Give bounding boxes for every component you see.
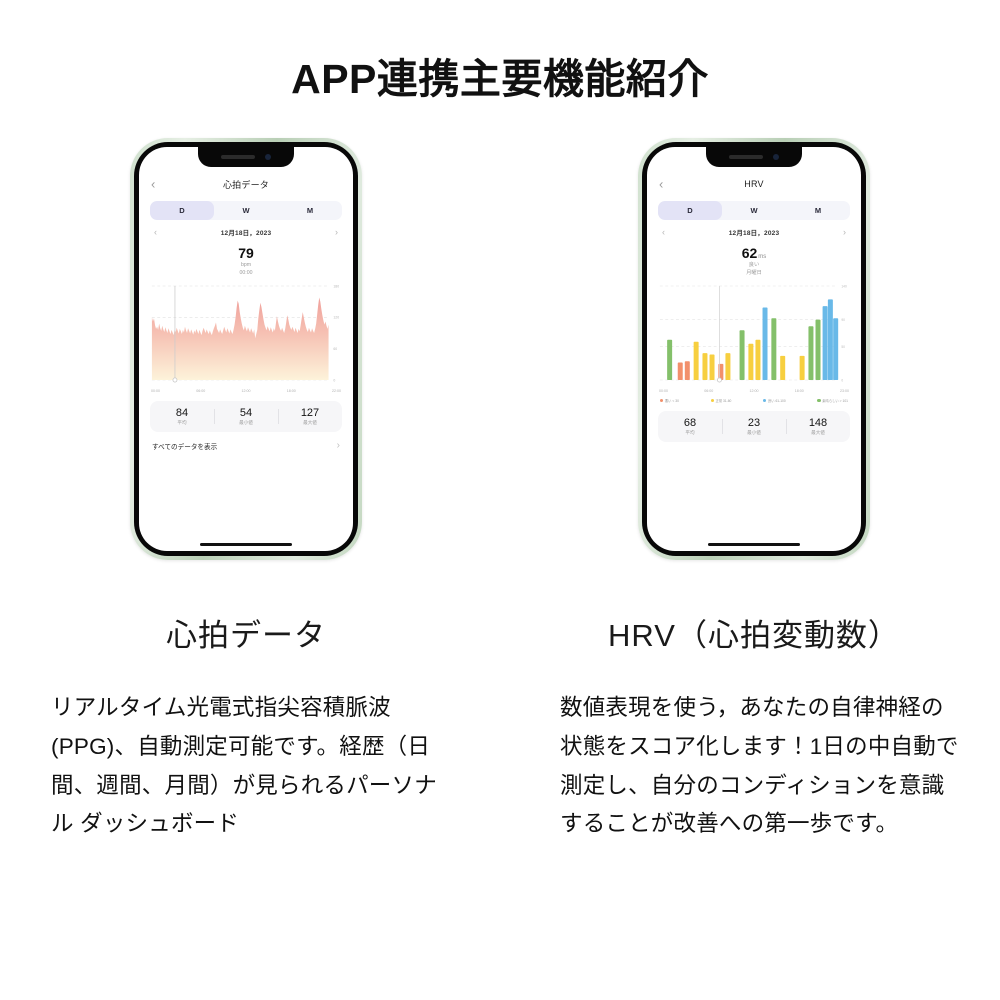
x-tick-label: 12:00 xyxy=(750,389,759,393)
front-camera-icon xyxy=(265,154,271,160)
svg-text:90: 90 xyxy=(841,318,845,322)
reading-time: 00:00 xyxy=(150,270,342,278)
summary-stats-card: 84 平均 54 最小値 127 最大値 xyxy=(150,401,342,432)
stat-minimum-label: 最小値 xyxy=(214,420,278,426)
front-camera-icon xyxy=(773,154,779,160)
stat-average: 84 平均 xyxy=(150,407,214,426)
date-next-icon[interactable]: › xyxy=(843,228,846,237)
summary-stats-card: 68 平均 23 最小値 148 最大値 xyxy=(658,411,850,442)
date-prev-icon[interactable]: ‹ xyxy=(154,228,157,237)
phone-screen-heart-rate: ‹ 心拍データ D W M ‹ 12月18日，2023 › 79 xyxy=(139,147,353,551)
stat-maximum-label: 最大値 xyxy=(278,420,342,426)
feature-column-hrv: ‹ HRV D W M ‹ 12月18日，2023 › xyxy=(554,138,954,844)
legend-color-dot-icon xyxy=(763,399,766,402)
x-tick-label: 06:00 xyxy=(704,389,713,393)
home-indicator xyxy=(708,543,800,547)
date-prev-icon[interactable]: ‹ xyxy=(662,228,665,237)
chart-bar-series xyxy=(667,299,838,380)
hrv-app: ‹ HRV D W M ‹ 12月18日，2023 › xyxy=(647,147,861,551)
chart-y-tick-labels: 05090140 xyxy=(841,284,847,382)
date-label: 12月18日，2023 xyxy=(729,227,780,237)
reading-value-wrap: 62ms xyxy=(658,246,850,261)
legend-color-dot-icon xyxy=(660,399,663,402)
legend-item-label: 正常 31-60 xyxy=(715,398,731,403)
stat-minimum-label: 最小値 xyxy=(722,430,786,436)
phone-screen-hrv: ‹ HRV D W M ‹ 12月18日，2023 › xyxy=(647,147,861,551)
hrv-chart-svg: 05090140 xyxy=(658,282,850,388)
svg-text:120: 120 xyxy=(333,316,339,320)
chart-x-tick-labels: 00:0006:0012:0018:0022:00 xyxy=(150,389,342,393)
earpiece-speaker-icon xyxy=(221,155,255,159)
legend-item: 悪い < 30 xyxy=(660,398,679,403)
reading-weekday: 月曜日 xyxy=(658,270,850,278)
current-reading: 79 bpm 00:00 xyxy=(150,246,342,278)
current-reading: 62ms 良い 月曜日 xyxy=(658,246,850,278)
heart-rate-chart: 060120180 xyxy=(150,282,342,388)
phone-mockup-hrv: ‹ HRV D W M ‹ 12月18日，2023 › xyxy=(638,138,870,560)
earpiece-speaker-icon xyxy=(729,155,763,159)
home-indicator xyxy=(200,543,292,547)
legend-color-dot-icon xyxy=(711,399,714,402)
x-tick-label: 18:00 xyxy=(287,389,296,393)
x-tick-label: 06:00 xyxy=(196,389,205,393)
svg-text:0: 0 xyxy=(841,378,843,382)
segment-day[interactable]: D xyxy=(658,201,722,220)
feature-column-heart-rate: ‹ 心拍データ D W M ‹ 12月18日，2023 › 79 xyxy=(46,138,446,844)
segment-week[interactable]: W xyxy=(722,201,786,220)
stat-average-label: 平均 xyxy=(658,430,722,436)
period-segmented-control[interactable]: D W M xyxy=(658,201,850,220)
svg-text:140: 140 xyxy=(841,284,847,288)
stat-minimum-value: 23 xyxy=(722,417,786,429)
legend-item: 正常 31-60 xyxy=(711,398,732,403)
reading-unit: ms xyxy=(758,254,766,260)
nav-title: 心拍データ xyxy=(223,178,269,191)
svg-text:60: 60 xyxy=(333,347,337,351)
stat-minimum: 54 最小値 xyxy=(214,407,278,426)
nav-title: HRV xyxy=(744,179,763,189)
x-tick-label: 18:00 xyxy=(795,389,804,393)
heart-rate-app: ‹ 心拍データ D W M ‹ 12月18日，2023 › 79 xyxy=(139,147,353,551)
period-segmented-control[interactable]: D W M xyxy=(150,201,342,220)
x-tick-label: 00:00 xyxy=(659,389,668,393)
legend-item: 良い 61-100 xyxy=(763,398,786,403)
svg-text:50: 50 xyxy=(841,345,845,349)
feature-caption-hrv: HRV（心拍変動数） xyxy=(608,617,900,654)
stat-minimum: 23 最小値 xyxy=(722,417,786,436)
chevron-right-icon[interactable]: › xyxy=(337,441,340,451)
reading-unit: bpm xyxy=(150,262,342,270)
legend-item-label: 良い 61-100 xyxy=(768,398,786,403)
stat-average-label: 平均 xyxy=(150,420,214,426)
stat-minimum-value: 54 xyxy=(214,407,278,419)
nav-bar: ‹ HRV xyxy=(658,172,850,196)
heart-rate-chart-svg: 060120180 xyxy=(150,282,342,388)
date-selector: ‹ 12月18日，2023 › xyxy=(150,227,342,237)
segment-week[interactable]: W xyxy=(214,201,278,220)
phone-mockup-heart-rate: ‹ 心拍データ D W M ‹ 12月18日，2023 › 79 xyxy=(130,138,362,560)
feature-caption-heart-rate: 心拍データ xyxy=(166,617,326,654)
date-next-icon[interactable]: › xyxy=(335,228,338,237)
segment-month[interactable]: M xyxy=(278,201,342,220)
chevron-left-icon[interactable]: ‹ xyxy=(659,178,663,191)
stat-maximum: 127 最大値 xyxy=(278,407,342,426)
reading-value: 79 xyxy=(150,246,342,261)
legend-item-label: 悪い < 30 xyxy=(665,398,679,403)
nav-bar: ‹ 心拍データ xyxy=(150,172,342,196)
svg-text:180: 180 xyxy=(333,284,339,288)
stat-maximum: 148 最大値 xyxy=(786,417,850,436)
feature-columns: ‹ 心拍データ D W M ‹ 12月18日，2023 › 79 xyxy=(0,138,1000,844)
feature-body-heart-rate: リアルタイム光電式指尖容積脈波(PPG)、自動測定可能です。経歴（日間、週間、月… xyxy=(41,689,451,844)
x-tick-label: 22:00 xyxy=(332,389,341,393)
x-tick-label: 12:00 xyxy=(242,389,251,393)
page-title: APP連携主要機能紹介 xyxy=(0,0,1000,102)
reading-value: 62 xyxy=(742,245,758,261)
stat-average: 68 平均 xyxy=(658,417,722,436)
stat-maximum-value: 148 xyxy=(786,417,850,429)
date-selector: ‹ 12月18日，2023 › xyxy=(658,227,850,237)
stat-average-value: 84 xyxy=(150,407,214,419)
chart-time-marker-dot xyxy=(717,378,721,382)
legend-color-dot-icon xyxy=(817,399,820,402)
phone-notch xyxy=(198,147,294,167)
feature-body-hrv: 数値表現を使う，あなたの自律神経の状態をスコア化します！1日の中自動で測定し、自… xyxy=(548,689,960,844)
date-label: 12月18日，2023 xyxy=(221,227,272,237)
chart-x-tick-labels: 00:0006:0012:0018:0023:00 xyxy=(658,389,850,393)
legend-item: 素晴らしい > 101 xyxy=(817,398,848,403)
phone-notch xyxy=(706,147,802,167)
x-tick-label: 00:00 xyxy=(151,389,160,393)
chevron-left-icon[interactable]: ‹ xyxy=(151,178,155,191)
svg-text:0: 0 xyxy=(333,378,335,382)
segment-day[interactable]: D xyxy=(150,201,214,220)
hrv-chart: 05090140 xyxy=(658,282,850,388)
hrv-chart-legend: 悪い < 30正常 31-60良い 61-100素晴らしい > 101 xyxy=(658,398,850,403)
chart-y-tick-labels: 060120180 xyxy=(333,284,339,382)
stat-maximum-value: 127 xyxy=(278,407,342,419)
chart-area-series xyxy=(152,297,329,380)
show-all-data-row[interactable]: すべてのデータを表示 › xyxy=(150,441,342,451)
stat-average-value: 68 xyxy=(658,417,722,429)
reading-status: 良い xyxy=(658,262,850,270)
chart-time-marker-dot xyxy=(173,378,177,382)
segment-month[interactable]: M xyxy=(786,201,850,220)
show-all-data-label: すべてのデータを表示 xyxy=(152,441,217,451)
stat-maximum-label: 最大値 xyxy=(786,430,850,436)
legend-item-label: 素晴らしい > 101 xyxy=(822,398,848,403)
x-tick-label: 23:00 xyxy=(840,389,849,393)
